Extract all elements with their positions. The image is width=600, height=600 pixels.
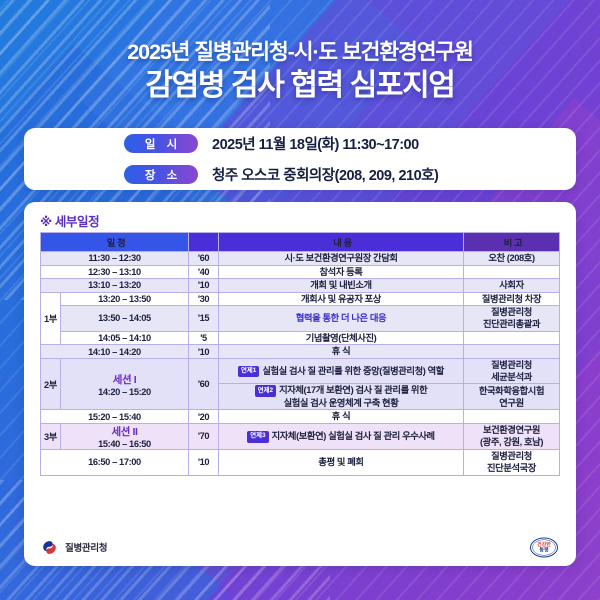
- cell-time: 13:10 – 13:20: [41, 279, 189, 293]
- schedule-row: 2부세션 I14:20 – 15:20'60연제1실험실 검사 질 관리를 위한…: [41, 358, 560, 384]
- poster-title-line1: 2025년 질병관리청-시·도 보건환경연구원: [0, 40, 600, 65]
- cell-content: 총평 및 폐회: [219, 449, 464, 475]
- schedule-row: 16:50 – 17:00'10총평 및 폐회질병관리청진단분석국장: [41, 449, 560, 475]
- cell-duration: '15: [189, 306, 219, 332]
- svg-text:건강한: 건강한: [537, 541, 551, 548]
- schedule-card: ※ 세부일정 일 정 내 용 비 고 11:30 – 12:30'60시·도 보…: [24, 202, 576, 566]
- cell-content: 시·도 보건환경연구원장 간담회: [219, 252, 464, 266]
- schedule-row: 13:10 – 13:20'10개회 및 내빈소개사회자: [41, 279, 560, 293]
- content-text: 시·도 보건환경연구원장 간담회: [284, 253, 397, 263]
- cell-note: [464, 265, 560, 279]
- info-row-venue: 장 소 청주 오스코 중회의장(208, 209, 210호): [24, 159, 576, 190]
- cell-content: 개회사 및 유공자 포상: [219, 292, 464, 306]
- schedule-row: 14:05 – 14:10'5기념촬영(단체사진): [41, 331, 560, 345]
- cell-content: 개회 및 내빈소개: [219, 279, 464, 293]
- poster-footer: 질병관리청 건강한 동행: [40, 534, 560, 560]
- cell-note: [464, 345, 560, 359]
- cell-time: 13:50 – 14:05: [61, 306, 189, 332]
- cell-note: [464, 331, 560, 345]
- cell-note: 질병관리청세균분석과: [464, 358, 560, 384]
- topic-badge: 연제1: [238, 366, 259, 378]
- schedule-row: 3부세션 II15:40 – 16:50'70연제3지자체(보환연) 실험실 검…: [41, 423, 560, 449]
- info-label-date: 일 시: [124, 134, 198, 153]
- cell-content: 연제3지자체(보환연) 실험실 검사 질 관리 우수사례: [219, 423, 464, 449]
- cell-content: 휴 식: [219, 410, 464, 424]
- poster-title-block: 2025년 질병관리청-시·도 보건환경연구원 감염병 검사 협력 심포지엄: [0, 40, 600, 104]
- svg-text:동행: 동행: [539, 546, 549, 553]
- cell-note: 사회자: [464, 279, 560, 293]
- cell-duration: '70: [189, 423, 219, 449]
- cell-duration: '30: [189, 292, 219, 306]
- content-text: 휴 식: [332, 346, 351, 356]
- topic-badge: 연제3: [247, 431, 268, 443]
- cell-time: 세션 II15:40 – 16:50: [61, 423, 189, 449]
- cell-note: 한국화학융합시험연구원: [464, 384, 560, 410]
- poster-title-line2: 감염병 검사 협력 심포지엄: [0, 68, 600, 104]
- cell-part: 2부: [41, 358, 61, 410]
- cell-duration: '60: [189, 252, 219, 266]
- schedule-table: 일 정 내 용 비 고 11:30 – 12:30'60시·도 보건환경연구원장…: [40, 232, 560, 476]
- content-text: 개회사 및 유공자 포상: [301, 294, 381, 304]
- session-label: 세션 II: [61, 424, 188, 439]
- info-label-venue: 장 소: [124, 165, 198, 184]
- cell-time: 14:05 – 14:10: [61, 331, 189, 345]
- content-text: 개회 및 내빈소개: [310, 280, 371, 290]
- taegeuk-icon: [40, 538, 59, 557]
- event-info-card: 일 시 2025년 11월 18일(화) 11:30~17:00 장 소 청주 …: [24, 128, 576, 190]
- cell-content: 참석자 등록: [219, 265, 464, 279]
- cell-time: 12:30 – 13:10: [41, 265, 189, 279]
- topic-badge: 연제2: [255, 385, 276, 397]
- schedule-row: 13:50 – 14:05'15협력을 통한 더 나은 대응질병관리청진단관리총…: [41, 306, 560, 332]
- cell-content: 휴 식: [219, 345, 464, 359]
- info-value-venue: 청주 오스코 중회의장(208, 209, 210호): [212, 164, 438, 185]
- cell-content: 협력을 통한 더 나은 대응: [219, 306, 464, 332]
- column-header-content: 내 용: [219, 233, 464, 252]
- schedule-row: 11:30 – 12:30'60시·도 보건환경연구원장 간담회오찬 (208호…: [41, 252, 560, 266]
- cell-time: 11:30 – 12:30: [41, 252, 189, 266]
- agency-brand: 질병관리청: [40, 538, 107, 557]
- cell-duration: '5: [189, 331, 219, 345]
- poster-root: 2025년 질병관리청-시·도 보건환경연구원 감염병 검사 협력 심포지엄 일…: [0, 0, 600, 600]
- cell-duration: '40: [189, 265, 219, 279]
- session-label: 세션 I: [61, 372, 188, 387]
- cell-content: 연제2지자체(17개 보환연) 검사 질 관리를 위한실험실 검사 운영체계 구…: [219, 384, 464, 410]
- content-text: 참석자 등록: [320, 267, 363, 277]
- cell-duration: '10: [189, 449, 219, 475]
- cell-note: 보건환경연구원(광주, 강원, 호남): [464, 423, 560, 449]
- content-text: 협력을 통한 더 나은 대응: [296, 313, 386, 323]
- cell-duration: '60: [189, 358, 219, 410]
- cell-time: 14:10 – 14:20: [41, 345, 189, 359]
- schedule-row: 12:30 – 13:10'40참석자 등록: [41, 265, 560, 279]
- cell-duration: '20: [189, 410, 219, 424]
- schedule-row: 15:20 – 15:40'20휴 식: [41, 410, 560, 424]
- cell-duration: '10: [189, 279, 219, 293]
- column-header-note: 비 고: [464, 233, 560, 252]
- cell-time: 세션 I14:20 – 15:20: [61, 358, 189, 410]
- agency-name: 질병관리청: [65, 540, 107, 554]
- content-text: 총평 및 폐회: [318, 457, 363, 467]
- cell-content: 기념촬영(단체사진): [219, 331, 464, 345]
- info-row-date: 일 시 2025년 11월 18일(화) 11:30~17:00: [24, 128, 576, 159]
- cell-part: 1부: [41, 292, 61, 345]
- cell-note: 질병관리청 차장: [464, 292, 560, 306]
- cell-note: 오찬 (208호): [464, 252, 560, 266]
- content-text: 기념촬영(단체사진): [306, 333, 377, 343]
- cell-note: 질병관리청진단관리총괄과: [464, 306, 560, 332]
- info-value-date: 2025년 11월 18일(화) 11:30~17:00: [212, 133, 419, 154]
- schedule-table-head: 일 정 내 용 비 고: [41, 233, 560, 252]
- content-text: 실험실 검사 질 관리를 위한 중앙(질병관리청) 역할: [262, 366, 444, 376]
- cell-time: 15:20 – 15:40: [41, 410, 189, 424]
- cell-content: 연제1실험실 검사 질 관리를 위한 중앙(질병관리청) 역할: [219, 358, 464, 384]
- schedule-row: 14:10 – 14:20'10휴 식: [41, 345, 560, 359]
- schedule-row: 1부13:20 – 13:50'30개회사 및 유공자 포상질병관리청 차장: [41, 292, 560, 306]
- content-text: 지자체(보환연) 실험실 검사 질 관리 우수사례: [272, 431, 435, 441]
- cell-time: 13:20 – 13:50: [61, 292, 189, 306]
- schedule-section-title: ※ 세부일정: [40, 211, 99, 230]
- column-header-time: 일 정: [41, 233, 189, 252]
- cell-part: 3부: [41, 423, 61, 449]
- content-text: 지자체(17개 보환연) 검사 질 관리를 위한: [279, 385, 427, 395]
- cell-note: [464, 410, 560, 424]
- cell-note: 질병관리청진단분석국장: [464, 449, 560, 475]
- content-text: 실험실 검사 운영체계 구축 현황: [284, 398, 399, 408]
- schedule-table-body: 11:30 – 12:30'60시·도 보건환경연구원장 간담회오찬 (208호…: [41, 252, 560, 476]
- content-text: 휴 식: [332, 411, 351, 421]
- cell-duration: '10: [189, 345, 219, 359]
- cell-time: 16:50 – 17:00: [41, 449, 189, 475]
- healthy-companion-stamp-icon: 건강한 동행: [528, 536, 560, 558]
